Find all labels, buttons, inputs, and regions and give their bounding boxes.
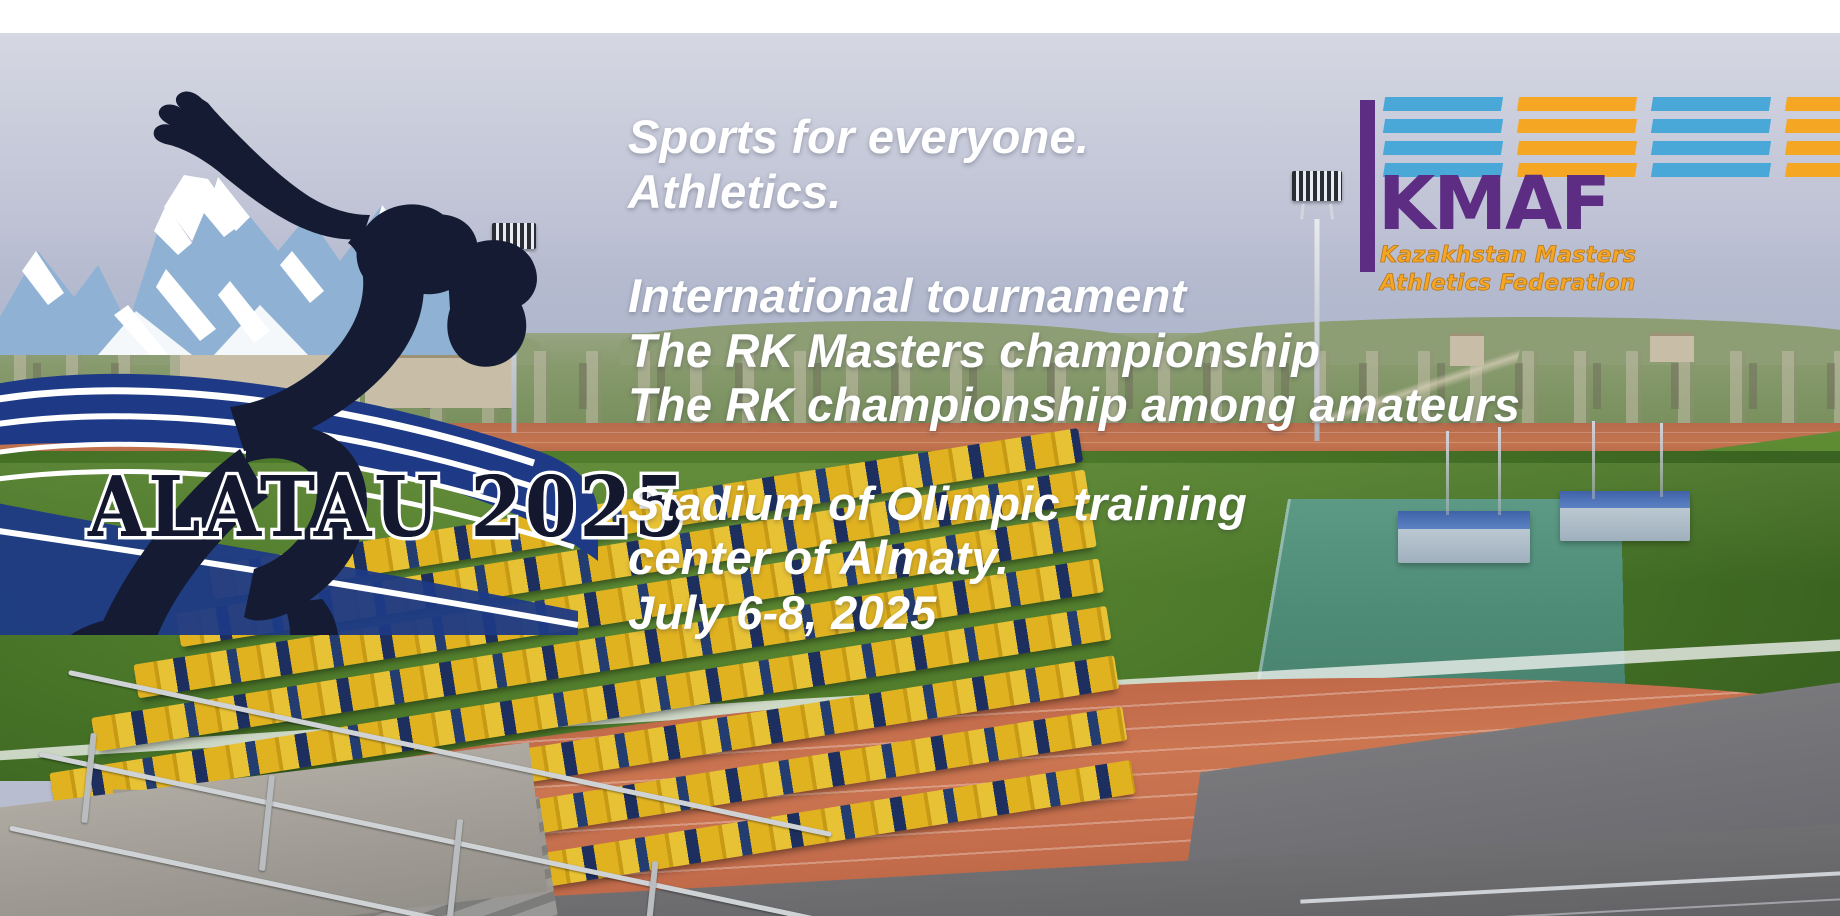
kmaf-vertical-bar [1360, 100, 1375, 272]
kmaf-bar-blue [1651, 119, 1771, 133]
venue-date: July 6-8, 2025 [628, 586, 1838, 641]
kmaf-bar-orange [1517, 97, 1637, 111]
kmaf-bar-orange [1785, 97, 1840, 111]
kmaf-bar-blue [1651, 141, 1771, 155]
kmaf-subtitle-line-1: Kazakhstan Masters [1380, 243, 1636, 268]
kmaf-bar-blue [1651, 163, 1771, 177]
kmaf-bar-orange [1517, 119, 1637, 133]
kmaf-subtitle-line-2: Athletics Federation [1380, 271, 1636, 296]
kmaf-bar-blue [1383, 141, 1503, 155]
kmaf-bar-orange [1785, 119, 1840, 133]
event-line-3: The RK championship among amateurs [628, 378, 1838, 433]
kmaf-bar-orange [1517, 141, 1637, 155]
kmaf-bar-blue [1651, 97, 1771, 111]
top-white-band [0, 0, 1840, 33]
kmaf-bar-blue [1383, 119, 1503, 133]
event-line-2: The RK Masters championship [628, 324, 1838, 379]
kmaf-logo: KMAF Kazakhstan Masters Athletics Federa… [1360, 95, 1840, 295]
kmaf-bar-blue [1383, 97, 1503, 111]
copy-spacer [628, 433, 1838, 477]
kmaf-bar-orange [1785, 163, 1840, 177]
poster-canvas: ALATAU 2025 ALATAU 2025 Sports for every… [0, 0, 1840, 916]
kmaf-acronym: KMAF [1378, 167, 1609, 241]
venue-line-1: Stadium of Olimpic training [628, 477, 1838, 532]
venue-line-2: center of Almaty. [628, 531, 1838, 586]
kmaf-bar-orange [1785, 141, 1840, 155]
alatau-wordmark: ALATAU 2025 [88, 460, 689, 556]
